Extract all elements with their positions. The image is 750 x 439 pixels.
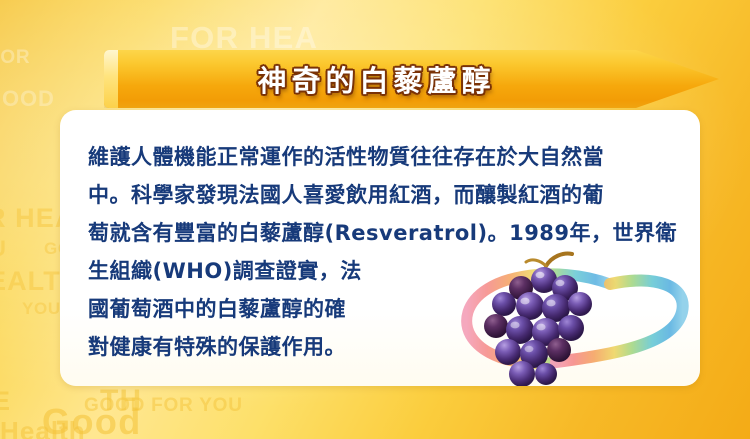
watermark-text: GOOD <box>0 88 55 110</box>
poster-stage: FOR FOR HEA YOU 健康 GOOD R HEA U GOOD EAL… <box>0 0 750 439</box>
copy-line: 生組織(WHO)調查證實，法 <box>88 252 528 290</box>
copy-line: 中。科學家發現法國人喜愛飲用紅酒，而釀製紅酒的葡 <box>88 176 528 214</box>
copy-line: 對健康有特殊的保護作用。 <box>88 328 528 366</box>
copy-line: 萄就含有豐富的白藜蘆醇(Resveratrol)。1989年，世界衛 <box>88 214 528 252</box>
watermark-text: YOU <box>22 300 61 317</box>
content-card: 維護人體機能正常運作的活性物質往往存在於大自然當 中。科學家發現法國人喜愛飲用紅… <box>60 110 700 386</box>
watermark-text: U <box>0 238 7 260</box>
watermark-text: Health <box>0 418 86 439</box>
body-copy: 維護人體機能正常運作的活性物質往往存在於大自然當 中。科學家發現法國人喜愛飲用紅… <box>88 138 528 366</box>
watermark-text: E <box>0 388 11 415</box>
page-title: 神奇的白藜蘆醇 <box>104 50 719 108</box>
watermark-text: FOR <box>0 48 30 67</box>
watermark-text: EALT <box>0 268 61 295</box>
copy-line: 維護人體機能正常運作的活性物質往往存在於大自然當 <box>88 138 528 176</box>
watermark-text: FOR HEA <box>170 22 318 53</box>
copy-line: 國葡萄酒中的白藜蘆醇的確 <box>88 290 528 328</box>
